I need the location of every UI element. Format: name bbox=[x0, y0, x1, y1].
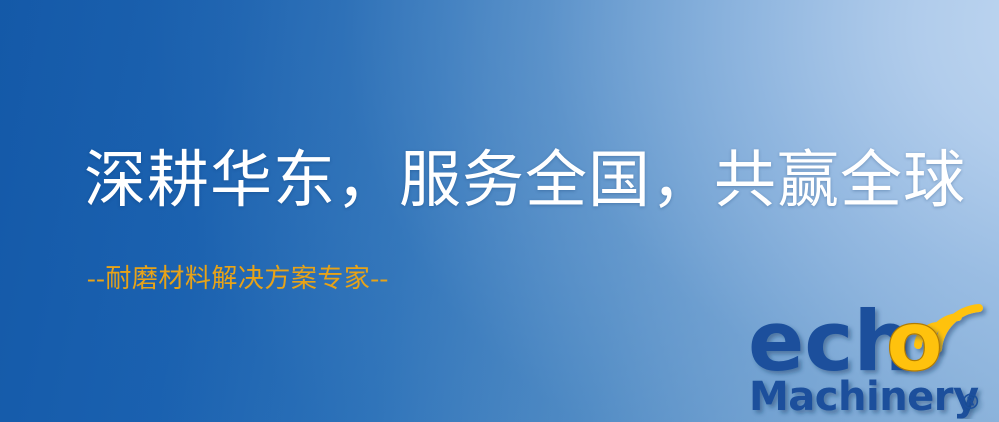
banner-headline: 深耕华东，服务全国，共赢全球 bbox=[84, 150, 966, 212]
hero-banner: 深耕华东，服务全国，共赢全球 --耐磨材料解决方案专家-- ech o Mach… bbox=[0, 0, 999, 422]
registered-trademark-icon: ® bbox=[960, 390, 981, 414]
echo-machinery-logo[interactable]: ech o Machinery ® bbox=[748, 289, 993, 419]
logo-text-machinery: Machinery bbox=[749, 374, 979, 419]
banner-subtitle: --耐磨材料解决方案专家-- bbox=[87, 266, 389, 292]
